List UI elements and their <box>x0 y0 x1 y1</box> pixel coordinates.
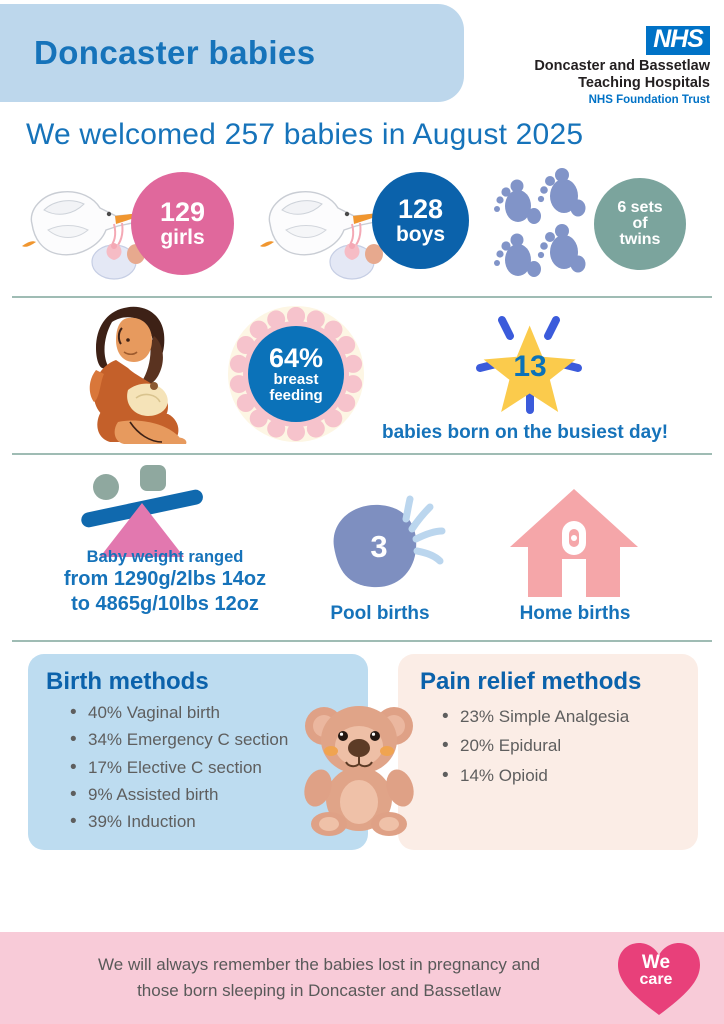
boys-count-badge: 128 boys <box>372 172 469 269</box>
divider-3 <box>12 640 712 642</box>
weight-line1: Baby weight ranged <box>20 548 310 567</box>
memorial-message: We will always remember the babies lost … <box>0 952 612 1005</box>
we-care-line2: care <box>612 972 700 988</box>
teddy-bear-icon <box>298 696 420 836</box>
girls-label: girls <box>160 227 204 248</box>
breastfeeding-badge: 64% breast feeding <box>226 304 366 444</box>
footer: We will always remember the babies lost … <box>0 932 724 1024</box>
weight-pool-home-row: Baby weight ranged from 1290g/2lbs 14oz … <box>0 455 724 640</box>
pool-births-label: Pool births <box>310 603 450 625</box>
pain-relief-title: Pain relief methods <box>420 668 680 696</box>
we-care-logo: We care <box>612 937 724 1019</box>
home-births-icon: 0 <box>508 485 640 600</box>
list-item: 14% Opioid <box>436 765 680 786</box>
page-title: Doncaster babies <box>34 34 316 72</box>
twins-count-badge: 6 sets of twins <box>594 178 686 270</box>
births-row: 129 girls 128 boys <box>0 166 724 296</box>
pool-births-number: 3 <box>356 529 402 565</box>
trust-name: Doncaster and Bassetlaw Teaching Hospita… <box>470 58 710 92</box>
we-care-text: We care <box>612 953 700 988</box>
trust-name-line2: Teaching Hospitals <box>470 75 710 92</box>
pool-births-icon: 3 <box>316 495 446 600</box>
pain-relief-list: 23% Simple Analgesia 20% Epidural 14% Op… <box>436 706 680 786</box>
birth-methods-title: Birth methods <box>46 668 350 696</box>
baby-weight-text: Baby weight ranged from 1290g/2lbs 14oz … <box>20 548 310 617</box>
breastfeeding-mother-illustration <box>66 302 206 452</box>
memorial-line1: We will always remember the babies lost … <box>26 952 612 978</box>
trust-name-line1: Doncaster and Bassetlaw <box>470 58 710 75</box>
twins-line3: twins <box>620 232 661 248</box>
boys-label: boys <box>396 224 445 245</box>
breastfeeding-percent-circle: 64% breast feeding <box>248 326 344 422</box>
weight-line3: to 4865g/10lbs 12oz <box>20 592 310 617</box>
title-bar: Doncaster babies <box>0 4 464 102</box>
busiest-day-label: babies born on the busiest day! <box>382 422 668 444</box>
girls-number: 129 <box>160 199 205 227</box>
breastfeeding-label-line2: feeding <box>269 388 322 404</box>
baby-footprints-icon <box>490 168 595 278</box>
list-item: 20% Epidural <box>436 735 680 756</box>
we-care-line1: We <box>612 953 700 972</box>
infographic-page: Doncaster babies NHS Doncaster and Basse… <box>0 0 724 1024</box>
boys-number: 128 <box>398 196 443 224</box>
busiest-day-star-icon: 13 <box>468 306 592 424</box>
home-births-label: Home births <box>500 603 650 625</box>
methods-panels: Birth methods 40% Vaginal birth 34% Emer… <box>0 654 724 864</box>
girls-count-badge: 129 girls <box>131 172 234 275</box>
twins-line1: 6 sets <box>617 200 662 216</box>
star-number: 13 <box>513 350 546 383</box>
header: Doncaster babies NHS Doncaster and Basse… <box>0 0 724 112</box>
headline: We welcomed 257 babies in August 2025 <box>26 118 724 152</box>
feeding-row: 64% breast feeding 13 babies born on the… <box>0 298 724 453</box>
nhs-logo: NHS <box>646 26 710 55</box>
twins-line2: of <box>632 216 647 232</box>
weight-line2: from 1290g/2lbs 14oz <box>20 567 310 592</box>
memorial-line2: those born sleeping in Doncaster and Bas… <box>26 978 612 1004</box>
breastfeeding-percent: 64% <box>269 344 323 372</box>
nhs-branding: NHS Doncaster and Bassetlaw Teaching Hos… <box>470 26 710 106</box>
pain-relief-panel: Pain relief methods 23% Simple Analgesia… <box>398 654 698 850</box>
list-item: 23% Simple Analgesia <box>436 706 680 727</box>
breastfeeding-label-line1: breast <box>273 372 318 388</box>
trust-subtitle: NHS Foundation Trust <box>470 94 710 106</box>
